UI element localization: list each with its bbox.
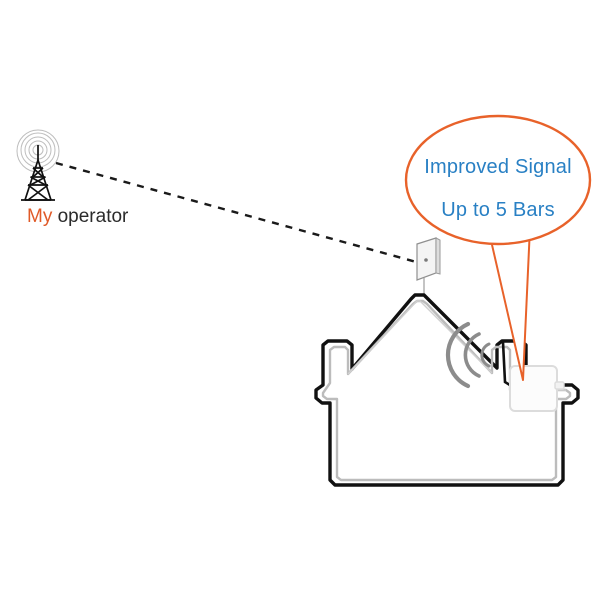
callout-bubble-mask [409, 119, 586, 240]
tower-structure [21, 145, 55, 200]
antenna-connector-icon [424, 258, 428, 262]
antenna-panel-side [436, 238, 440, 274]
callout-line-1: Improved Signal [424, 156, 572, 178]
diagram-canvas: My operator [0, 0, 600, 600]
tower-label-operator: operator [52, 206, 129, 227]
tower-label-my: My [27, 206, 53, 227]
tower-label: My operator [27, 206, 129, 227]
booster-side-port [555, 382, 564, 389]
callout-line-2: Up to 5 Bars [441, 199, 555, 221]
booster-body [510, 366, 557, 411]
signal-booster-diagram: My operator [0, 0, 600, 600]
